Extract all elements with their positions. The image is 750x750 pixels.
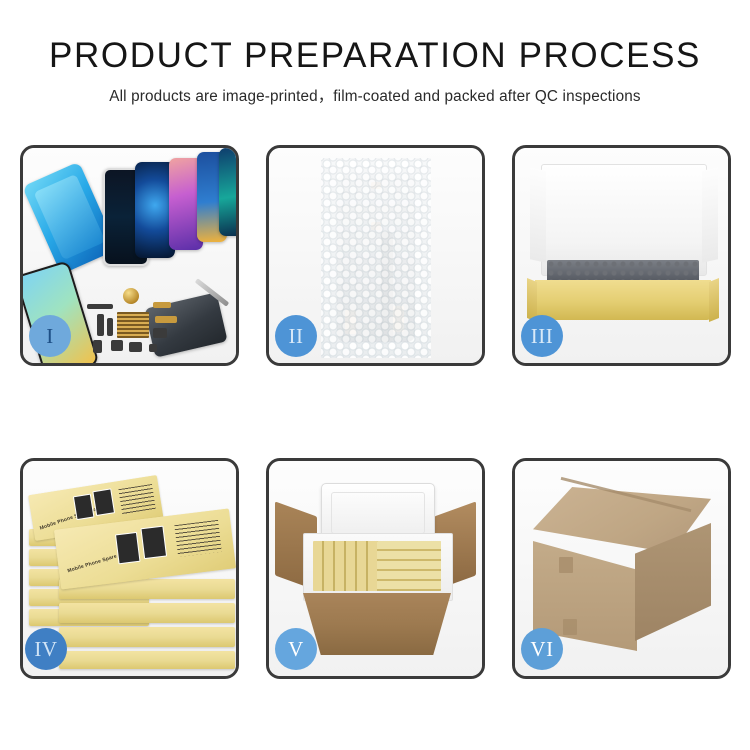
process-steps-grid: I II III <box>20 145 732 679</box>
stacked-box-edge <box>59 603 235 623</box>
step-badge-6: VI <box>521 628 563 670</box>
speaker-coil-part <box>123 288 139 304</box>
screw-part <box>149 344 157 352</box>
step-badge-5: V <box>275 628 317 670</box>
box-label-phone-image <box>140 526 167 560</box>
sim-tray-part <box>93 340 102 353</box>
page-subtitle: All products are image-printed，film-coat… <box>0 84 750 106</box>
bubble-texture <box>321 158 431 358</box>
camera-module-part <box>153 328 167 338</box>
panel-step-3: III <box>512 145 731 366</box>
stacked-box-edge <box>59 651 235 669</box>
gold-flex-part <box>155 316 177 323</box>
box-label-phone-image <box>115 532 140 564</box>
small-components-cluster <box>87 288 199 360</box>
stacked-box-edge <box>59 627 235 647</box>
step-badge-2: II <box>275 315 317 357</box>
panel-step-6: VI <box>512 458 731 679</box>
box-label-phone-image <box>73 494 95 521</box>
yellow-box-body <box>535 280 711 320</box>
step-badge-4: IV <box>25 628 67 670</box>
panel-step-5: V <box>266 458 485 679</box>
page-header: PRODUCT PREPARATION PROCESS All products… <box>0 0 750 106</box>
teal-display-phone <box>219 148 239 236</box>
packed-boxes-right <box>377 541 441 591</box>
panel-step-2: II <box>266 145 485 366</box>
carton-tape-lower <box>563 619 577 635</box>
earpiece-mesh-part <box>87 304 113 309</box>
gold-connector-part <box>153 302 171 308</box>
box-label-phone-image <box>92 488 115 516</box>
vibrator-part <box>111 340 123 351</box>
chip-array-part <box>117 312 149 338</box>
step-badge-1: I <box>29 315 71 357</box>
page-title: PRODUCT PREPARATION PROCESS <box>0 38 750 75</box>
box-label-lines <box>118 484 156 515</box>
carton-tape-upper <box>559 557 573 573</box>
button-part <box>129 342 142 352</box>
panel-step-1: I <box>20 145 239 366</box>
box-label-lines <box>174 520 222 557</box>
flex-strip-part <box>107 318 113 336</box>
step-badge-3: III <box>521 315 563 357</box>
carton-body <box>303 593 451 655</box>
flex-strip-part <box>97 314 104 336</box>
panel-step-4: Mobile Phone Spare Parts Mobile Phone Sp… <box>20 458 239 679</box>
bubble-wrap-bag <box>321 158 431 358</box>
